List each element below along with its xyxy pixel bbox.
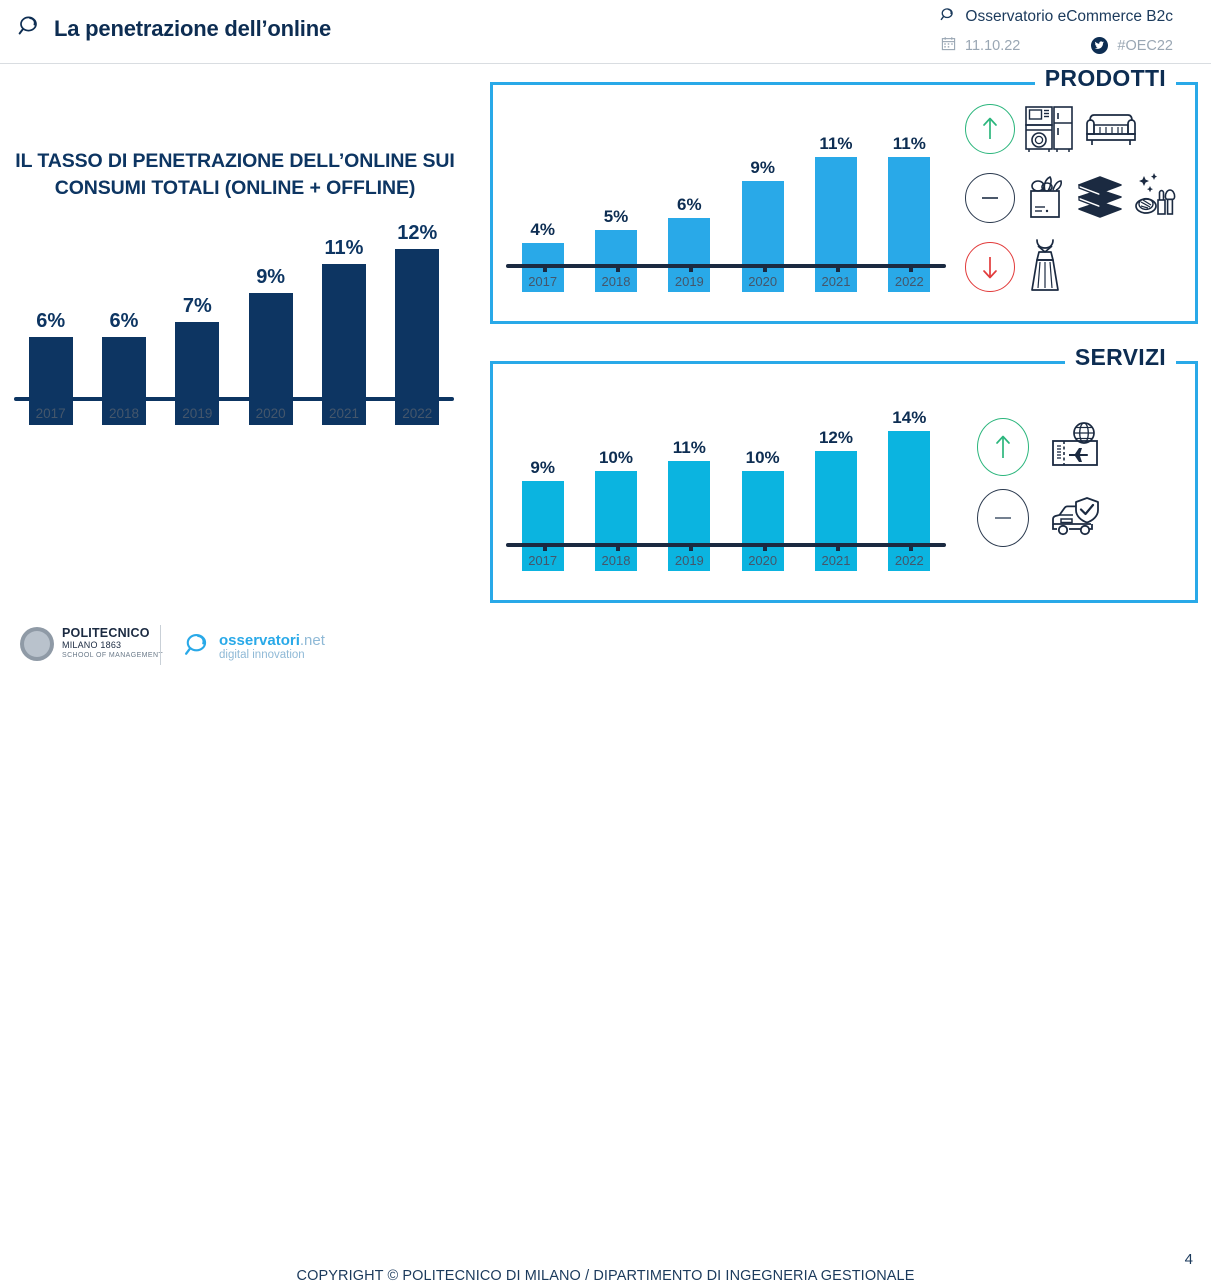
totale-chart-bars: 6%6%7%9%11%12% [14,190,454,425]
bar-value-label: 4% [506,220,579,240]
servizi-chart-xlabels: 201720182019202020212022 [506,553,946,568]
x-axis-label: 2020 [726,553,799,568]
servizi-trend-up-row [977,411,1101,483]
twitter-icon[interactable] [1091,37,1108,54]
header-brand-right: Osservatorio eCommerce B2c 11.10.22 [939,6,1173,55]
books-icon [1075,173,1125,224]
politecnico-line3: SCHOOL OF MANAGEMENT [62,651,163,661]
event-date: 11.10.22 [965,38,1020,54]
osservatori-tld: .net [300,632,325,649]
axis-tick [763,546,767,551]
servizi-icon-cluster [977,411,1101,553]
servizi-panel: SERVIZI 9%10%11%10%12%14% 20172018201920… [490,361,1198,603]
politecnico-line1: POLITECNICO [62,627,163,640]
prodotti-icon-cluster [965,96,1181,300]
servizi-chart: 9%10%11%10%12%14% [506,371,946,571]
axis-tick [689,267,693,272]
politecnico-logo: POLITECNICO MILANO 1863 SCHOOL OF MANAGE… [20,627,163,661]
axis-tick [616,546,620,551]
prodotti-chart: 4%5%6%9%11%11% [506,92,946,292]
minus-circle-icon [977,489,1029,547]
table-row: 9% [234,220,307,425]
minus-circle-icon [965,173,1015,223]
totale-chart-axis [14,397,454,401]
travel-ticket-icon [1049,419,1101,476]
bar-value-label: 10% [579,448,652,468]
politecnico-line2: MILANO 1863 [62,640,163,651]
bar-value-label: 11% [873,134,946,154]
page-footer: POLITECNICO MILANO 1863 SCHOOL OF MANAGE… [0,613,1211,680]
politecnico-wordmark: POLITECNICO MILANO 1863 SCHOOL OF MANAGE… [62,627,163,661]
footer-divider [160,625,161,665]
x-axis-label: 2019 [161,406,234,421]
servizi-trend-flat-row [977,483,1101,553]
osservatori-logo: osservatori.net digital innovation [182,630,325,665]
x-axis-label: 2022 [381,406,454,421]
axis-tick [909,546,913,551]
table-row: 6% [14,220,87,425]
x-axis-label: 2022 [873,274,946,289]
magnifier-icon [182,630,212,665]
armchair-icon [1083,105,1139,154]
x-axis-label: 2019 [653,553,726,568]
x-axis-label: 2018 [579,274,652,289]
prodotti-trend-down-row [965,234,1181,300]
servizi-border-notch [1178,358,1190,361]
x-axis-label: 2017 [506,553,579,568]
axis-tick [909,267,913,272]
bar-value-label: 6% [14,310,87,333]
grocery-bag-icon [1023,171,1067,226]
osservatori-tagline: digital innovation [219,649,325,662]
bar-value-label: 9% [234,266,307,289]
header-brand-left: La penetrazione dell’online [16,13,331,44]
hashtag: #OEC22 [1117,38,1173,54]
x-axis-label: 2018 [579,553,652,568]
table-row: 6% [87,220,160,425]
bar-value-label: 12% [381,222,454,245]
prodotti-panel: PRODOTTI 4%5%6%9%11%11% 2017201820192020… [490,82,1198,324]
bar-value-label: 14% [873,408,946,428]
prodotti-trend-up-row [965,96,1181,162]
bar-value-label: 6% [87,310,160,333]
bar-value-label: 10% [726,448,799,468]
axis-tick [543,267,547,272]
prodotti-trend-flat-row [965,162,1181,234]
prodotti-border-notch [1178,79,1190,82]
x-axis-label: 2017 [14,406,87,421]
x-axis-label: 2020 [234,406,307,421]
bar-value-label: 9% [506,458,579,478]
arrow-up-circle-icon [965,104,1015,154]
prodotti-chart-xlabels: 201720182019202020212022 [506,274,946,289]
arrow-up-circle-icon [977,418,1029,476]
osservatori-name: osservatori [219,632,300,649]
bar-value-label: 7% [161,295,234,318]
magnifier-icon [16,13,42,44]
axis-tick [417,400,421,405]
politecnico-seal-icon [20,627,54,661]
prodotti-chart-axis [506,264,946,268]
page-number: 4 [1185,1251,1193,1268]
axis-tick [763,267,767,272]
bar-value-label: 6% [653,195,726,215]
servizi-panel-title: SERVIZI [1065,344,1176,371]
dress-icon [1023,236,1067,299]
table-row: 11% [307,220,380,425]
axis-tick [344,400,348,405]
brand-line: Osservatorio eCommerce B2c [939,6,1173,28]
axis-tick [836,267,840,272]
table-row: 12% [381,220,454,425]
arrow-down-circle-icon [965,242,1015,292]
car-insurance-icon [1049,492,1101,545]
table-row: 7% [161,220,234,425]
cosmetics-icon [1133,170,1181,227]
axis-tick [543,546,547,551]
axis-tick [836,546,840,551]
axis-tick [689,546,693,551]
bar-value-label: 11% [799,134,872,154]
appliances-icon [1023,99,1075,160]
x-axis-label: 2018 [87,406,160,421]
page-header: La penetrazione dell’online Osservatorio… [0,0,1211,64]
x-axis-label: 2021 [799,274,872,289]
osservatori-wordmark: osservatori.net digital innovation [219,633,325,662]
servizi-chart-axis [506,543,946,547]
prodotti-panel-title: PRODOTTI [1035,65,1176,92]
page-title: La penetrazione dell’online [54,16,331,42]
magnifier-icon [939,6,956,28]
bar-value-label: 12% [799,428,872,448]
axis-tick [197,400,201,405]
x-axis-label: 2017 [506,274,579,289]
bar-value-label: 9% [726,158,799,178]
meta-line: 11.10.22 #OEC22 [939,36,1173,55]
bar-value-label: 11% [653,438,726,458]
brand-name: Osservatorio eCommerce B2c [965,8,1173,26]
totale-chart-xlabels: 201720182019202020212022 [14,406,454,421]
x-axis-label: 2022 [873,553,946,568]
copyright-text: COPYRIGHT © POLITECNICO DI MILANO / DIPA… [0,1268,1211,1284]
x-axis-label: 2021 [799,553,872,568]
bar-value-label: 11% [307,237,380,260]
axis-tick [271,400,275,405]
calendar-icon [941,36,956,55]
x-axis-label: 2020 [726,274,799,289]
x-axis-label: 2019 [653,274,726,289]
axis-tick [51,400,55,405]
bar-value-label: 5% [579,207,652,227]
x-axis-label: 2021 [307,406,380,421]
axis-tick [616,267,620,272]
axis-tick [124,400,128,405]
